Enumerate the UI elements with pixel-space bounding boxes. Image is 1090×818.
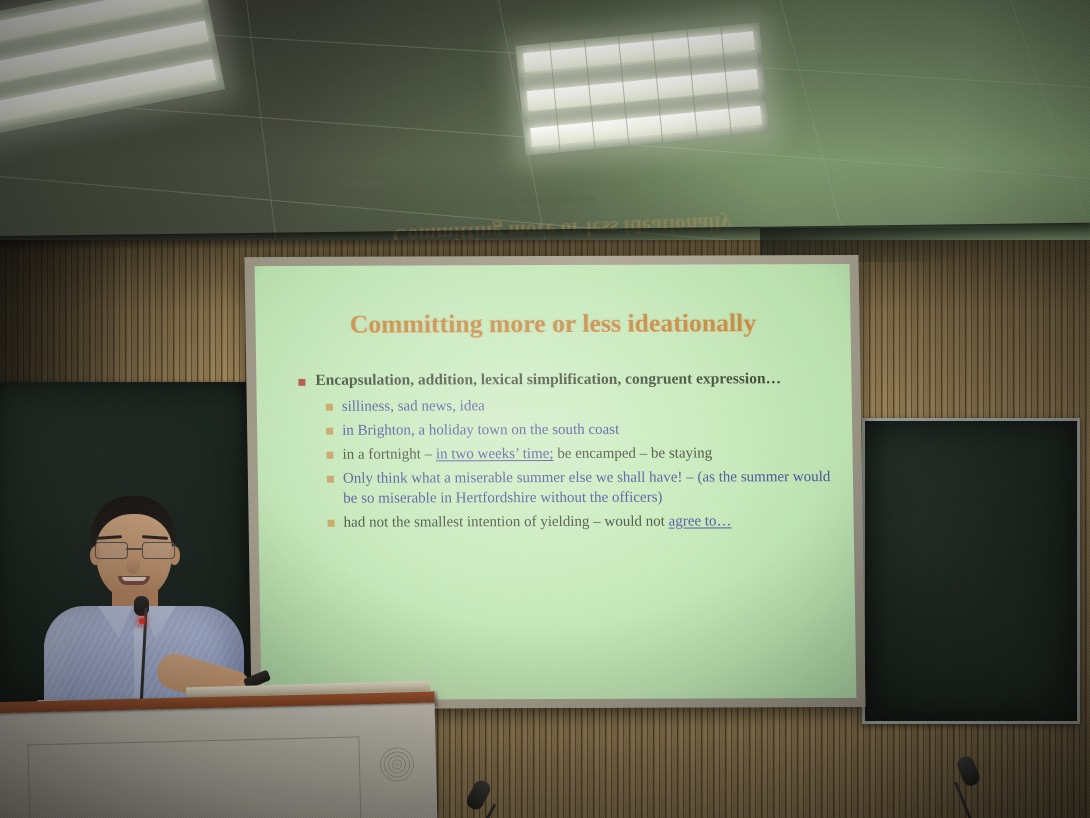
bullet-level2-text: had not the smallest intention of yieldi… — [343, 512, 731, 533]
bullet-level2: silliness, sad news, idea — [326, 396, 830, 417]
bullet-text-part: had not the smallest intention of yieldi… — [343, 513, 668, 530]
lecture-hall-scene: Committing more or less ideationally Enc… — [0, 0, 1090, 818]
bullet-text-part: in a fortnight – — [342, 447, 436, 463]
glasses-bridge — [126, 548, 142, 550]
bullet-marker-square — [327, 476, 334, 483]
bullet-text-underlined[interactable]: in two weeks’ time; — [436, 446, 554, 462]
bullet-level2: Only think what a miserable summer else … — [327, 469, 832, 509]
bullet-text-part: be encamped – be staying — [553, 446, 712, 463]
bullet-text-underlined[interactable]: agree to… — [668, 513, 731, 529]
bullet-level2: in Brighton, a holiday town on the south… — [326, 420, 830, 441]
slide-sublist: silliness, sad news, idea in Brighton, a… — [299, 396, 832, 533]
projection-screen: Committing more or less ideationally Enc… — [244, 255, 865, 709]
slide-body: Encapsulation, addition, lexical simplif… — [298, 370, 832, 538]
lens — [95, 542, 128, 559]
bullet-level2-text: in Brighton, a holiday town on the south… — [342, 421, 619, 441]
bullet-marker-square — [298, 379, 305, 386]
chalkboard-right — [862, 418, 1080, 724]
bullet-level2: in a fortnight – in two weeks’ time; be … — [326, 444, 830, 465]
speaker-grille-icon — [380, 747, 415, 782]
bullet-level2-text: in a fortnight – in two weeks’ time; be … — [342, 445, 712, 465]
bullet-level2-text: silliness, sad news, idea — [342, 397, 485, 417]
slide-title: Committing more or less ideationally — [255, 308, 851, 340]
bullet-level2: had not the smallest intention of yieldi… — [327, 512, 831, 533]
presentation-slide: Committing more or less ideationally Enc… — [255, 264, 857, 700]
bullet-marker-square — [326, 404, 333, 411]
bullet-level1-text: Encapsulation, addition, lexical simplif… — [315, 370, 781, 391]
bullet-marker-square — [328, 520, 335, 527]
bullet-marker-square — [326, 428, 333, 435]
nose — [126, 556, 140, 574]
lecture-podium — [0, 701, 437, 818]
ceiling-light-fixture-center — [515, 23, 769, 156]
bullet-level1: Encapsulation, addition, lexical simplif… — [298, 370, 829, 391]
lens — [142, 542, 175, 559]
teeth — [122, 577, 146, 581]
chalk-residue — [865, 421, 1077, 721]
bullet-level2-text: Only think what a miserable summer else … — [343, 469, 832, 509]
bullet-marker-square — [327, 452, 334, 459]
podium-front-panel — [27, 736, 361, 818]
microphone-indicator-light — [139, 618, 145, 624]
